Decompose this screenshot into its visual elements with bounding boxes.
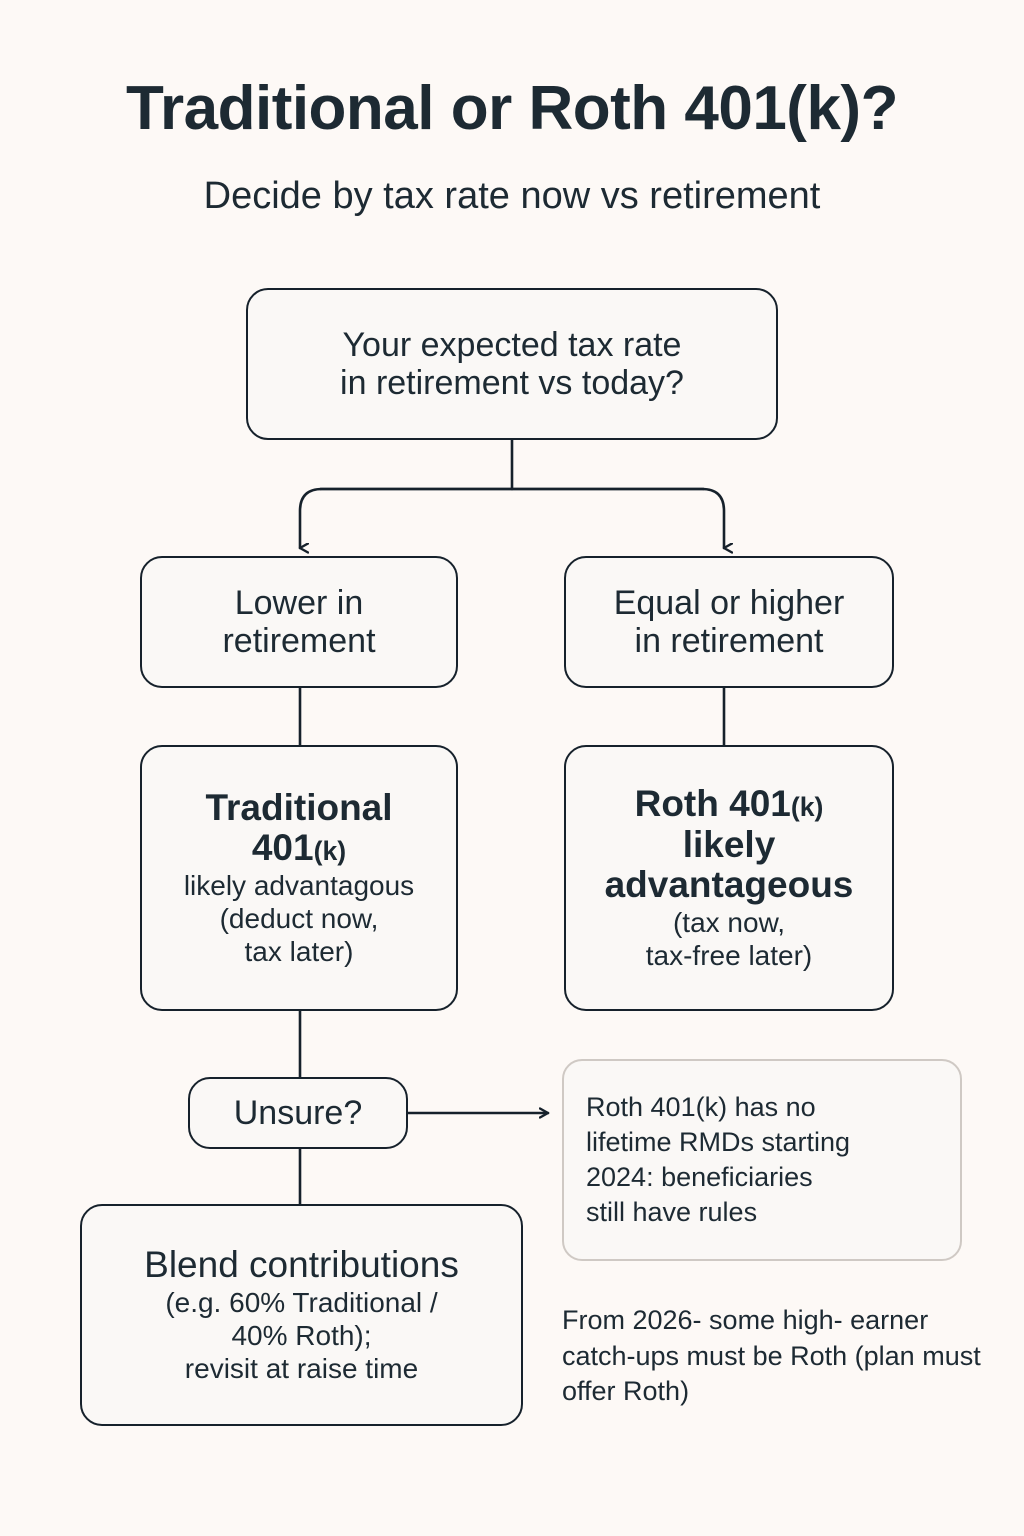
node-equal-or-higher-in-retirement[interactable]: Equal or higher in retirement xyxy=(564,556,894,688)
node-roth-line-2: likely xyxy=(683,825,776,866)
node-roth-line-3: advantageous xyxy=(605,865,854,906)
node-traditional-k-suffix: (k) xyxy=(314,836,347,866)
node-unsure[interactable]: Unsure? xyxy=(188,1077,408,1149)
note-rmd-line-1: Roth 401(k) has no xyxy=(586,1090,816,1125)
node-traditional-line-2: 401(k) xyxy=(252,828,346,869)
node-traditional-line-4: (deduct now, xyxy=(220,902,379,935)
node-lower-line-1: Lower in xyxy=(235,584,364,622)
node-blend-contributions[interactable]: Blend contributions (e.g. 60% Traditiona… xyxy=(80,1204,523,1426)
node-roth-401k[interactable]: Roth 401(k) likely advantageous (tax now… xyxy=(564,745,894,1011)
infographic-canvas: Traditional or Roth 401(k)? Decide by ta… xyxy=(0,0,1024,1536)
node-root-question[interactable]: Your expected tax rate in retirement vs … xyxy=(246,288,778,440)
node-root-line-2: in retirement vs today? xyxy=(340,364,684,402)
node-root-line-1: Your expected tax rate xyxy=(343,326,682,364)
node-unsure-label: Unsure? xyxy=(234,1094,363,1132)
node-blend-line-1: Blend contributions xyxy=(144,1245,459,1286)
footnote-line-1: From 2026- some high- xyxy=(562,1305,843,1335)
note-rmd-line-2: lifetime RMDs starting xyxy=(586,1125,850,1160)
note-roth-rmd[interactable]: Roth 401(k) has no lifetime RMDs startin… xyxy=(562,1059,962,1261)
node-roth-line-4: (tax now, xyxy=(673,906,785,939)
node-lower-in-retirement[interactable]: Lower in retirement xyxy=(140,556,458,688)
node-blend-line-3: 40% Roth); xyxy=(231,1319,371,1352)
node-roth-401-text: Roth 401 xyxy=(635,783,791,824)
page-subtitle: Decide by tax rate now vs retirement xyxy=(0,176,1024,218)
node-traditional-401k[interactable]: Traditional 401(k) likely advantagous (d… xyxy=(140,745,458,1011)
node-blend-line-4: revisit at raise time xyxy=(185,1352,418,1385)
node-higher-line-2: in retirement xyxy=(635,622,824,660)
wire-root-to-higher xyxy=(512,489,724,548)
wire-root-to-lower xyxy=(300,489,512,548)
node-blend-line-2: (e.g. 60% Traditional / xyxy=(165,1286,437,1319)
node-traditional-line-3: likely advantagous xyxy=(184,869,414,902)
node-traditional-401-text: 401 xyxy=(252,827,314,868)
note-rmd-line-4: still have rules xyxy=(586,1195,757,1230)
note-rmd-line-3: 2024: beneficiaries xyxy=(586,1160,813,1195)
node-lower-line-2: retirement xyxy=(222,622,375,660)
node-higher-line-1: Equal or higher xyxy=(614,584,845,622)
node-traditional-line-5: tax later) xyxy=(245,935,354,968)
node-roth-k-suffix: (k) xyxy=(791,792,824,822)
node-roth-line-5: tax-free later) xyxy=(646,939,813,972)
footnote-catch-up-rules: From 2026- some high- earner catch-ups m… xyxy=(562,1303,992,1410)
node-traditional-line-1: Traditional xyxy=(205,788,392,829)
node-roth-line-1: Roth 401(k) xyxy=(635,784,824,825)
page-title: Traditional or Roth 401(k)? xyxy=(0,76,1024,141)
